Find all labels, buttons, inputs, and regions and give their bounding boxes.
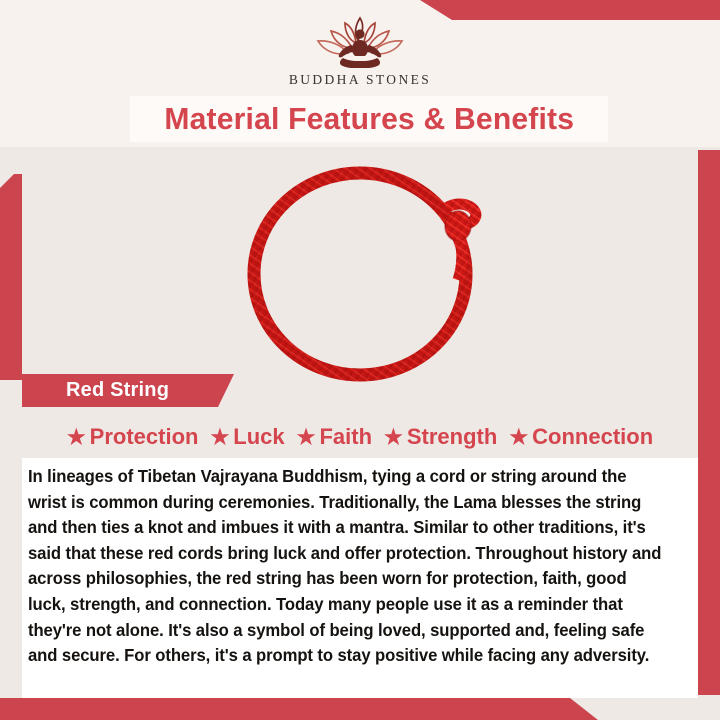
decorative-left-bar	[0, 174, 22, 380]
lotus-meditation-icon	[301, 14, 419, 70]
benefit-item-luck: ★ Luck	[210, 424, 284, 450]
benefit-label: Luck	[233, 424, 284, 450]
star-icon: ★	[509, 427, 528, 448]
star-icon: ★	[67, 427, 86, 448]
decorative-right-bar	[698, 150, 720, 695]
page-title: Material Features & Benefits	[164, 101, 574, 137]
benefit-item-protection: ★ Protection	[67, 424, 199, 450]
benefit-label: Strength	[407, 424, 497, 450]
benefit-item-connection: ★ Connection	[509, 424, 653, 450]
benefits-row: ★ Protection ★ Luck ★ Faith ★ Strength ★…	[22, 418, 698, 456]
benefit-item-faith: ★ Faith	[297, 424, 372, 450]
product-image	[232, 156, 498, 382]
section-banner-label: Red String	[66, 379, 169, 402]
title-panel: Material Features & Benefits	[130, 96, 608, 142]
section-banner: Red String	[22, 374, 234, 407]
benefit-label: Connection	[532, 424, 653, 450]
star-icon: ★	[210, 427, 229, 448]
star-icon: ★	[384, 427, 403, 448]
benefit-label: Protection	[90, 424, 199, 450]
brand-logo: BUDDHA STONES	[0, 14, 720, 94]
benefit-item-strength: ★ Strength	[384, 424, 497, 450]
star-icon: ★	[297, 427, 316, 448]
brand-name: BUDDHA STONES	[289, 72, 431, 88]
description-block: In lineages of Tibetan Vajrayana Buddhis…	[22, 458, 698, 698]
infographic-page: BUDDHA STONES Material Features & Benefi…	[0, 0, 720, 720]
red-string-bracelet-illustration	[232, 156, 498, 382]
benefit-label: Faith	[319, 424, 372, 450]
description-text: In lineages of Tibetan Vajrayana Buddhis…	[28, 464, 665, 669]
